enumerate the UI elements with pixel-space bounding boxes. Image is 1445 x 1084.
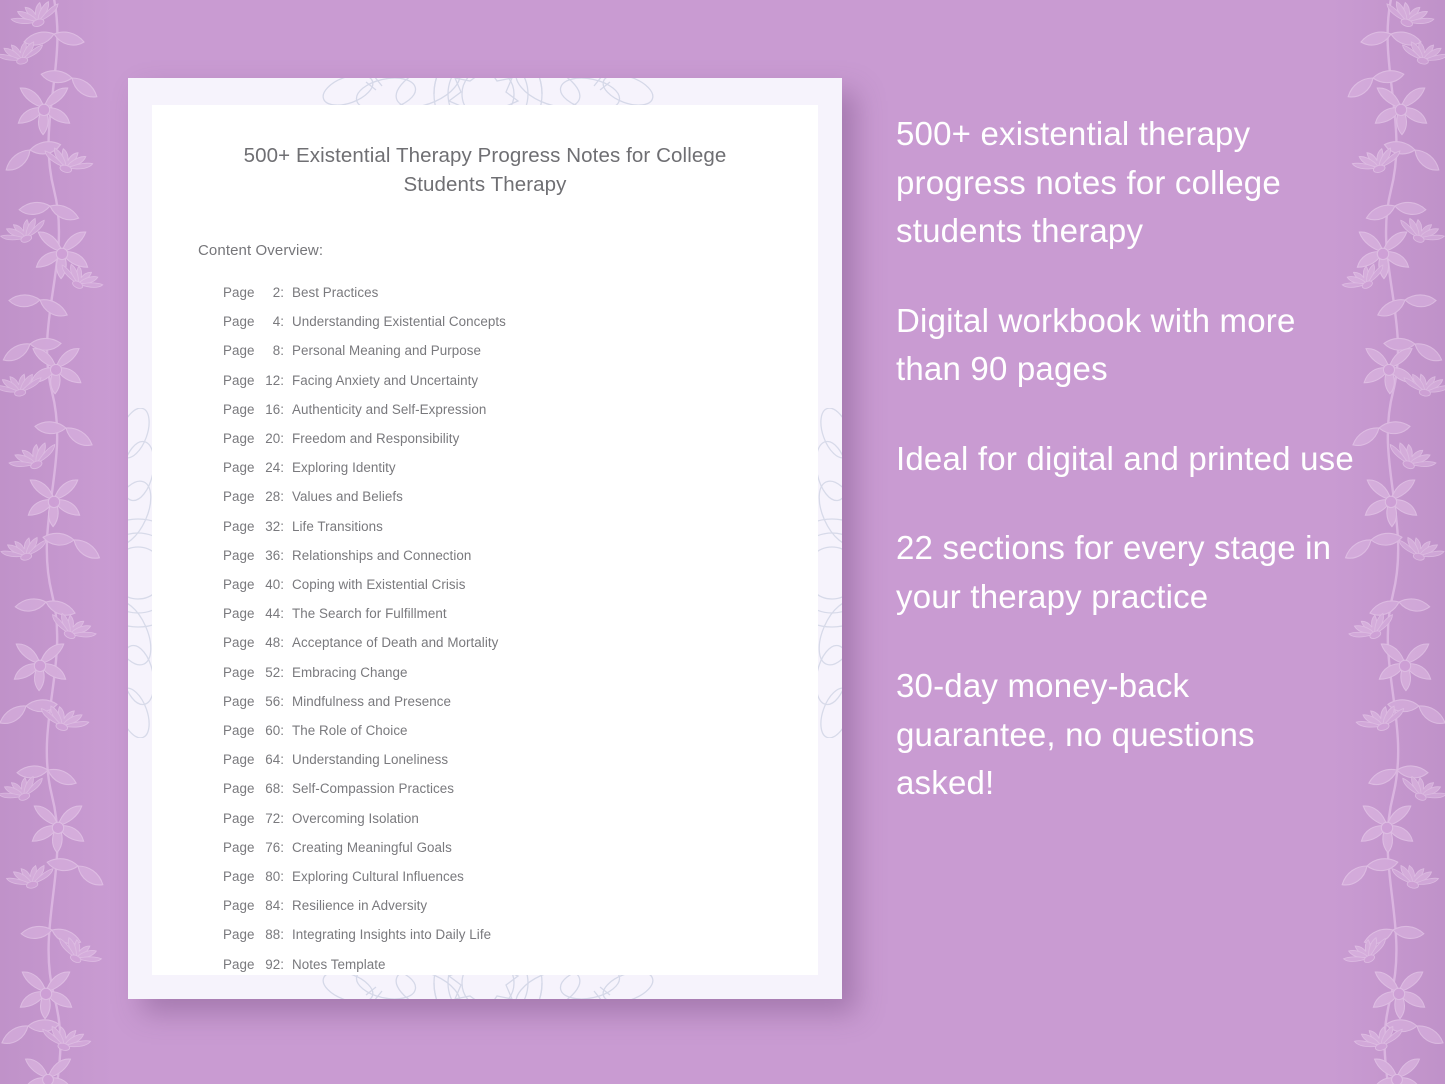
- toc-page-word: Page: [223, 570, 258, 599]
- toc-colon: :: [280, 599, 284, 628]
- toc-page-word: Page: [223, 453, 258, 482]
- toc-entry: Page 80:Exploring Cultural Influences: [223, 862, 772, 891]
- toc-colon: :: [280, 482, 284, 511]
- toc-page-word: Page: [223, 366, 258, 395]
- toc-page-number: 12: [258, 366, 280, 395]
- toc-colon: :: [280, 628, 284, 657]
- toc-entry: Page 68:Self-Compassion Practices: [223, 774, 772, 803]
- toc-page-word: Page: [223, 891, 258, 920]
- toc-topic: Freedom and Responsibility: [292, 424, 459, 453]
- toc-page-number: 80: [258, 862, 280, 891]
- toc-page-number: 76: [258, 833, 280, 862]
- marketing-block: 500+ existential therapy progress notes …: [896, 110, 1356, 256]
- toc-entry: Page 36:Relationships and Connection: [223, 541, 772, 570]
- toc-entry: Page 16:Authenticity and Self-Expression: [223, 395, 772, 424]
- toc-entry: Page 76:Creating Meaningful Goals: [223, 833, 772, 862]
- toc-colon: :: [280, 891, 284, 920]
- toc-page-word: Page: [223, 336, 258, 365]
- toc-page-word: Page: [223, 512, 258, 541]
- toc-page-number: 28: [258, 482, 280, 511]
- marketing-block: Ideal for digital and printed use: [896, 435, 1356, 484]
- content-overview-label: Content Overview:: [198, 242, 772, 259]
- toc-entry: Page 56:Mindfulness and Presence: [223, 687, 772, 716]
- toc-page-number: 56: [258, 687, 280, 716]
- toc-entry: Page 44:The Search for Fulfillment: [223, 599, 772, 628]
- toc-entry: Page 12:Facing Anxiety and Uncertainty: [223, 366, 772, 395]
- toc-colon: :: [280, 716, 284, 745]
- toc-page-number: 68: [258, 774, 280, 803]
- toc-colon: :: [280, 658, 284, 687]
- toc-colon: :: [280, 745, 284, 774]
- toc-page-word: Page: [223, 745, 258, 774]
- toc-colon: :: [280, 950, 284, 979]
- toc-page-word: Page: [223, 541, 258, 570]
- toc-colon: :: [280, 541, 284, 570]
- toc-colon: :: [280, 920, 284, 949]
- toc-topic: The Role of Choice: [292, 716, 408, 745]
- toc-entry: Page 92:Notes Template: [223, 950, 772, 979]
- toc-topic: Notes Template: [292, 950, 386, 979]
- toc-entry: Page 8:Personal Meaning and Purpose: [223, 336, 772, 365]
- toc-page-number: 84: [258, 891, 280, 920]
- toc-page-number: 64: [258, 745, 280, 774]
- page-title: 500+ Existential Therapy Progress Notes …: [198, 141, 772, 199]
- toc-page-word: Page: [223, 307, 258, 336]
- toc-page-word: Page: [223, 278, 258, 307]
- toc-page-word: Page: [223, 424, 258, 453]
- toc-topic: Embracing Change: [292, 658, 407, 687]
- toc-colon: :: [280, 570, 284, 599]
- toc-entry: Page 88:Integrating Insights into Daily …: [223, 920, 772, 949]
- toc-page-word: Page: [223, 482, 258, 511]
- toc-topic: Understanding Existential Concepts: [292, 307, 506, 336]
- toc-page-number: 92: [258, 950, 280, 979]
- toc-entry: Page 20:Freedom and Responsibility: [223, 424, 772, 453]
- toc-topic: Exploring Identity: [292, 453, 396, 482]
- toc-colon: :: [280, 453, 284, 482]
- toc-page-word: Page: [223, 774, 258, 803]
- toc-entry: Page 28:Values and Beliefs: [223, 482, 772, 511]
- toc-topic: Coping with Existential Crisis: [292, 570, 465, 599]
- toc-page-word: Page: [223, 658, 258, 687]
- marketing-column: 500+ existential therapy progress notes …: [896, 110, 1356, 808]
- toc-colon: :: [280, 862, 284, 891]
- toc-topic: Self-Compassion Practices: [292, 774, 454, 803]
- toc-topic: Authenticity and Self-Expression: [292, 395, 486, 424]
- toc-topic: Relationships and Connection: [292, 541, 471, 570]
- toc-page-word: Page: [223, 395, 258, 424]
- toc-entry: Page 60:The Role of Choice: [223, 716, 772, 745]
- toc-topic: Resilience in Adversity: [292, 891, 427, 920]
- toc-page-number: 4: [258, 307, 280, 336]
- toc-page-number: 52: [258, 658, 280, 687]
- toc-page-word: Page: [223, 950, 258, 979]
- toc-page-word: Page: [223, 687, 258, 716]
- toc-entry: Page 2:Best Practices: [223, 278, 772, 307]
- toc-entry: Page 72:Overcoming Isolation: [223, 804, 772, 833]
- toc-page-number: 60: [258, 716, 280, 745]
- toc-entry: Page 84:Resilience in Adversity: [223, 891, 772, 920]
- toc-colon: :: [280, 687, 284, 716]
- toc-colon: :: [280, 278, 284, 307]
- toc-page-word: Page: [223, 862, 258, 891]
- toc-page-number: 20: [258, 424, 280, 453]
- marketing-block: 30-day money-back guarantee, no question…: [896, 662, 1356, 808]
- toc-topic: Values and Beliefs: [292, 482, 403, 511]
- toc-page-word: Page: [223, 833, 258, 862]
- toc-page-word: Page: [223, 920, 258, 949]
- toc-topic: Best Practices: [292, 278, 378, 307]
- toc-page-word: Page: [223, 716, 258, 745]
- toc-page-number: 24: [258, 453, 280, 482]
- toc-topic: Facing Anxiety and Uncertainty: [292, 366, 478, 395]
- toc-colon: :: [280, 336, 284, 365]
- toc-colon: :: [280, 833, 284, 862]
- toc-page-number: 48: [258, 628, 280, 657]
- toc-page-number: 2: [258, 278, 280, 307]
- toc-page-number: 88: [258, 920, 280, 949]
- toc-entry: Page 52:Embracing Change: [223, 658, 772, 687]
- toc-topic: Mindfulness and Presence: [292, 687, 451, 716]
- toc-topic: Acceptance of Death and Mortality: [292, 628, 498, 657]
- toc-topic: The Search for Fulfillment: [292, 599, 447, 628]
- toc-topic: Creating Meaningful Goals: [292, 833, 452, 862]
- toc-colon: :: [280, 512, 284, 541]
- toc-topic: Integrating Insights into Daily Life: [292, 920, 491, 949]
- toc-page-number: 8: [258, 336, 280, 365]
- toc-page-number: 32: [258, 512, 280, 541]
- floral-vine-left-icon: [0, 0, 118, 1084]
- toc-colon: :: [280, 774, 284, 803]
- marketing-block: 22 sections for every stage in your ther…: [896, 524, 1356, 621]
- product-card: 500+ Existential Therapy Progress Notes …: [128, 78, 842, 999]
- toc-colon: :: [280, 366, 284, 395]
- toc-entry: Page 24:Exploring Identity: [223, 453, 772, 482]
- toc-topic: Understanding Loneliness: [292, 745, 448, 774]
- toc-entry: Page 48:Acceptance of Death and Mortalit…: [223, 628, 772, 657]
- toc-topic: Life Transitions: [292, 512, 383, 541]
- table-of-contents: Page 2:Best PracticesPage 4:Understandin…: [198, 278, 772, 979]
- toc-page-number: 36: [258, 541, 280, 570]
- toc-colon: :: [280, 395, 284, 424]
- toc-page-number: 72: [258, 804, 280, 833]
- toc-colon: :: [280, 424, 284, 453]
- document-page: 500+ Existential Therapy Progress Notes …: [152, 105, 818, 975]
- toc-page-number: 44: [258, 599, 280, 628]
- toc-page-number: 16: [258, 395, 280, 424]
- toc-page-number: 40: [258, 570, 280, 599]
- toc-topic: Personal Meaning and Purpose: [292, 336, 481, 365]
- toc-colon: :: [280, 307, 284, 336]
- toc-page-word: Page: [223, 804, 258, 833]
- toc-entry: Page 40:Coping with Existential Crisis: [223, 570, 772, 599]
- toc-page-word: Page: [223, 599, 258, 628]
- toc-entry: Page 4:Understanding Existential Concept…: [223, 307, 772, 336]
- toc-entry: Page 32:Life Transitions: [223, 512, 772, 541]
- toc-colon: :: [280, 804, 284, 833]
- toc-topic: Overcoming Isolation: [292, 804, 419, 833]
- toc-topic: Exploring Cultural Influences: [292, 862, 464, 891]
- marketing-block: Digital workbook with more than 90 pages: [896, 297, 1356, 394]
- toc-page-word: Page: [223, 628, 258, 657]
- toc-entry: Page 64:Understanding Loneliness: [223, 745, 772, 774]
